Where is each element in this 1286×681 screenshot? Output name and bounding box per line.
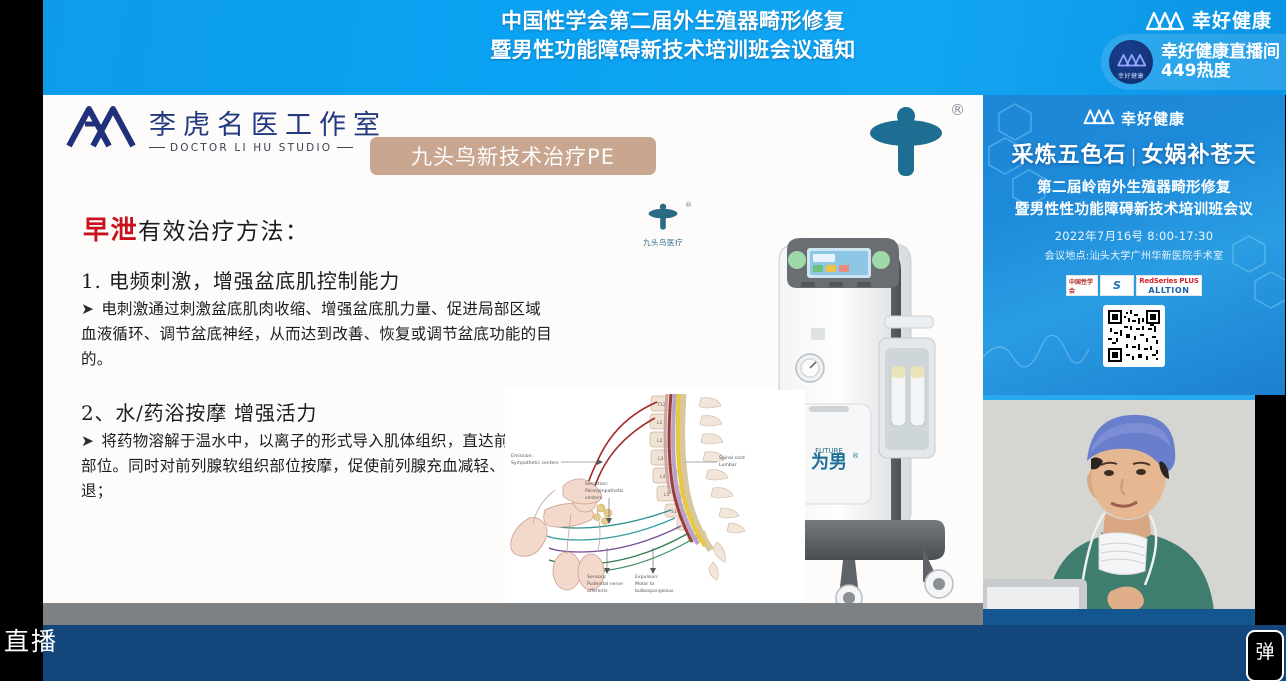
jiutouniao-medical-label: 九头鸟医疗 [643, 237, 683, 248]
stream-footer-bar [43, 625, 1286, 681]
jiutouniao-mark-icon [865, 99, 947, 183]
live-room-name: 幸好健康直播间 [1161, 43, 1280, 62]
slide-heading: 早泄有效治疗方法： [83, 210, 310, 247]
svg-text:Secretion:: Secretion: [585, 481, 609, 487]
presentation-slide[interactable]: 李虎名医工作室 DOCTOR LI HU STUDIO ® 九头鸟新技术治疗PE [43, 95, 983, 625]
svg-text:T12: T12 [656, 402, 666, 408]
svg-text:Spinal cord: Spinal cord [719, 455, 745, 461]
slide-section-1: 1. 电频刺激，增强盆底肌控制能力 ➤ 电刺激通过刺激盆底肌肉收缩、增强盆底肌力… [81, 265, 556, 372]
section-1-title: 1. 电频刺激，增强盆底肌控制能力 [81, 265, 556, 294]
svg-text:L1: L1 [657, 420, 663, 426]
stream-title-line2: 暨男性功能障碍新技术培训班会议通知 [373, 36, 973, 65]
poster-brand-name: 幸好健康 [1121, 108, 1185, 129]
avatar-label: 幸好健康 [1109, 71, 1153, 80]
section-2-body: ➤ 将药物溶解于温水中，以离子的形式导入肌体组织，直达前列腺部位。同时对前列腺软… [81, 429, 556, 504]
live-indicator-label: 直播 [4, 622, 58, 658]
section-2-title: 2、水/药浴按摩 增强活力 [81, 397, 556, 426]
bullet-arrow-icon: ➤ [81, 432, 94, 450]
presenter-camera-feed[interactable] [983, 395, 1285, 625]
live-room-heat: 449热度 [1161, 62, 1280, 81]
slide-heading-highlight: 早泄 [83, 216, 138, 246]
slide-banner-text: 九头鸟新技术治疗PE [411, 141, 615, 171]
registered-mark: ® [950, 101, 965, 119]
poster-subtitle-line2: 暨男性性功能障碍新技术培训班会议 [983, 199, 1285, 221]
poster-date: 2022年7月16号 8:00-17:30 [983, 228, 1285, 244]
stream-title-line1: 中国性学会第二届外生殖器畸形修复 [373, 7, 973, 36]
poster-brand: 幸好健康 [983, 107, 1285, 129]
svg-text:为男: 为男 [811, 451, 847, 473]
svg-text:centers: centers [585, 495, 603, 501]
mountain-logo-icon [1145, 9, 1185, 31]
svg-text:Motor to: Motor to [635, 581, 655, 587]
poster-venue: 会议地点:汕头大学广州华新医院手术室 [983, 247, 1285, 262]
letterbox-left [0, 0, 43, 681]
slide-heading-rest: 有效治疗方法： [138, 219, 310, 245]
stream-title: 中国性学会第二届外生殖器畸形修复 暨男性功能障碍新技术培训班会议通知 [373, 7, 973, 65]
svg-text:afferents: afferents [587, 588, 608, 594]
poster-headline-right: 女娲补苍天 [1142, 143, 1257, 168]
studio-logo: 李虎名医工作室 DOCTOR LI HU STUDIO [65, 103, 387, 153]
svg-text:Lumbar: Lumbar [719, 462, 737, 468]
svg-text:bulbospongiosus: bulbospongiosus [635, 588, 674, 594]
svg-text:®: ® [852, 452, 859, 460]
sponsor-logo-3: RedSeries PLUS ALLTION [1136, 275, 1202, 296]
studio-name-cn: 李虎名医工作室 [149, 112, 387, 139]
video-bottom-accent [983, 609, 1255, 625]
studio-name-en: DOCTOR LI HU STUDIO [149, 143, 387, 154]
stream-header-bar: 中国性学会第二届外生殖器畸形修复 暨男性功能障碍新技术培训班会议通知 幸好健康 [43, 0, 1286, 95]
svg-text:S1: S1 [671, 509, 677, 515]
sponsor-logos: 中国性学会 S RedSeries PLUS ALLTION [983, 275, 1285, 296]
video-right-letterbox [1255, 395, 1285, 625]
slide-section-2: 2、水/药浴按摩 增强活力 ➤ 将药物溶解于温水中，以离子的形式导入肌体组织，直… [81, 397, 556, 504]
mountain-peaks-icon [65, 103, 137, 153]
live-stream-page: 中国性学会第二届外生殖器畸形修复 暨男性功能障碍新技术培训班会议通知 幸好健康 [0, 0, 1286, 681]
svg-text:L2: L2 [657, 438, 663, 444]
event-poster: 幸好健康 采炼五色石|女娲补苍天 第二届岭南外生殖器畸形修复 暨男性性功能障碍新… [983, 95, 1285, 395]
brand-name-top: 幸好健康 [1192, 6, 1272, 33]
ejaculation-neural-pathway-diagram: T12L1L2 L3L4L5 S1S2S3 [505, 390, 805, 605]
svg-text:L4: L4 [660, 474, 666, 480]
bullet-arrow-icon: ➤ [81, 300, 94, 318]
svg-text:L3: L3 [658, 456, 664, 462]
video-top-accent [983, 395, 1255, 400]
svg-text:Sympathetic centers: Sympathetic centers [511, 460, 559, 466]
svg-text:Emission:: Emission: [511, 453, 533, 459]
svg-text:Expulsion:: Expulsion: [635, 574, 659, 580]
registration-qr-code[interactable] [1103, 305, 1165, 367]
mountain-logo-icon [1083, 107, 1115, 129]
avatar[interactable]: 幸好健康 [1109, 40, 1153, 84]
brand-logo-top: 幸好健康 [1145, 6, 1272, 33]
danmaku-label: 弹 [1255, 637, 1274, 664]
sponsor-logo-2: S [1100, 275, 1134, 296]
jiutouniao-reg-mark: ® [685, 201, 692, 209]
svg-text:Sensory:: Sensory: [587, 574, 607, 580]
poster-headline: 采炼五色石|女娲补苍天 [983, 137, 1285, 169]
danmaku-toggle-button[interactable]: 弹 [1246, 630, 1284, 681]
live-room-chip[interactable]: 幸好健康 幸好健康直播间 449热度 [1101, 34, 1286, 90]
sponsor-logo-1: 中国性学会 [1066, 275, 1098, 296]
slide-banner: 九头鸟新技术治疗PE [370, 137, 656, 175]
headline-divider: | [1130, 146, 1137, 167]
poster-subtitle: 第二届岭南外生殖器畸形修复 暨男性性功能障碍新技术培训班会议 [983, 177, 1285, 221]
section-1-body: ➤ 电刺激通过刺激盆底肌肉收缩、增强盆底肌力量、促进局部区域血液循环、调节盆底神… [81, 297, 556, 372]
jiutouniao-medical-logo: 九头鸟医疗 ® [643, 200, 683, 248]
svg-text:Parasympathetic: Parasympathetic [585, 488, 624, 494]
poster-headline-left: 采炼五色石 [1011, 143, 1126, 168]
poster-subtitle-line1: 第二届岭南外生殖器畸形修复 [983, 177, 1285, 199]
slide-footer-strip [43, 603, 983, 625]
svg-text:Pudendal nerve: Pudendal nerve [587, 581, 623, 587]
